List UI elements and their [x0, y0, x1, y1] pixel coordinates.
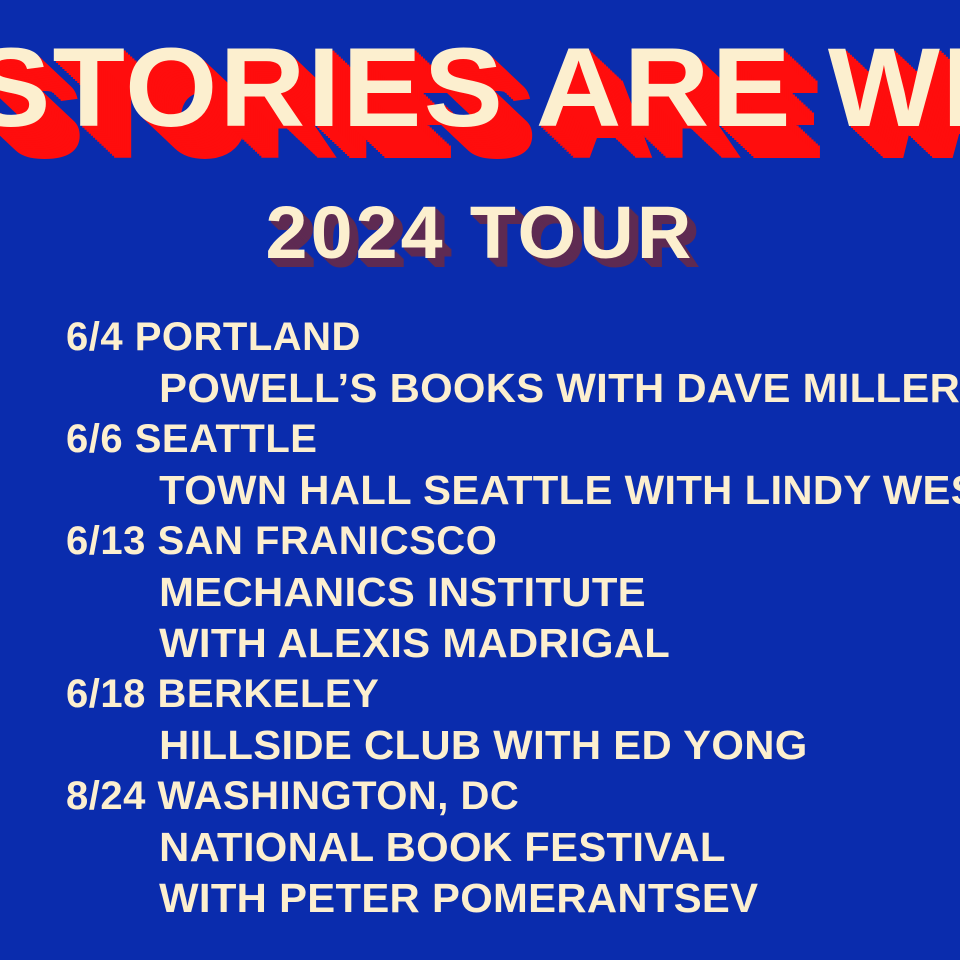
subtitle-line-1: 2024 TOUR	[0, 196, 960, 270]
tour-venue: TOWN HALL SEATTLE WITH LINDY WEST	[0, 465, 960, 516]
tour-venue: POWELL’S BOOKS WITH DAVE MILLER	[0, 363, 960, 414]
tour-stop: 6/4 PORTLAND POWELL’S BOOKS WITH DAVE MI…	[0, 312, 960, 414]
tour-date-city: 6/4 PORTLAND	[0, 312, 960, 363]
tour-stop: 8/24 WASHINGTON, DC NATIONAL BOOK FESTIV…	[0, 771, 960, 924]
tour-stop: 6/13 SAN FRANICSCO MECHANICS INSTITUTE W…	[0, 516, 960, 669]
tour-poster: STORIES ARE WEAPONS 2024 TOUR 6/4 PORTLA…	[0, 0, 960, 960]
tour-date-city: 6/18 BERKELEY	[0, 669, 960, 720]
tour-date-city: 6/13 SAN FRANICSCO	[0, 516, 960, 567]
tour-venue: NATIONAL BOOK FESTIVAL	[0, 822, 960, 873]
tour-venue: HILLSIDE CLUB WITH ED YONG	[0, 720, 960, 771]
tour-date-list: 6/4 PORTLAND POWELL’S BOOKS WITH DAVE MI…	[0, 312, 960, 924]
tour-date-city: 8/24 WASHINGTON, DC	[0, 771, 960, 822]
tour-stop: 6/18 BERKELEY HILLSIDE CLUB WITH ED YONG	[0, 669, 960, 771]
tour-date-city: 6/6 SEATTLE	[0, 414, 960, 465]
tour-venue-continued: WITH ALEXIS MADRIGAL	[0, 618, 960, 669]
poster-title: STORIES ARE WEAPONS	[0, 36, 960, 140]
tour-venue-continued: WITH PETER POMERANTSEV	[0, 873, 960, 924]
tour-venue: MECHANICS INSTITUTE	[0, 567, 960, 618]
poster-subtitle: 2024 TOUR	[0, 196, 960, 270]
title-line-1: STORIES ARE WEAPONS	[0, 36, 960, 140]
tour-stop: 6/6 SEATTLE TOWN HALL SEATTLE WITH LINDY…	[0, 414, 960, 516]
